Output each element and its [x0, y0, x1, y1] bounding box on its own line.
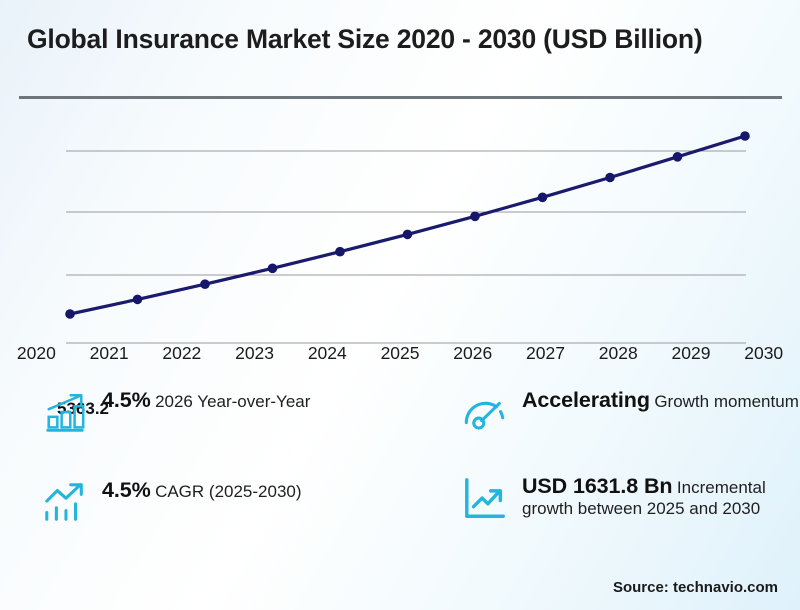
data-point [470, 212, 480, 222]
data-point [538, 193, 548, 203]
kpi-card-yoy: 4.5% 2026 Year-over-Year [42, 388, 310, 436]
gridlines [66, 151, 746, 343]
x-tick-label: 2024 [291, 343, 364, 371]
bar-chart-growth-icon [42, 390, 88, 436]
data-point [268, 264, 278, 274]
line-chart: 5363.2 [0, 110, 800, 360]
kpi-value: 4.5% [102, 388, 151, 412]
x-tick-label: 2021 [73, 343, 146, 371]
speedometer-icon [462, 390, 508, 436]
x-tick-label: 2022 [145, 343, 218, 371]
x-tick-label: 2020 [0, 343, 73, 371]
kpi-text: USD 1631.8 Bn Incremental growth between… [522, 474, 800, 520]
x-tick-label: 2030 [727, 343, 800, 371]
source-credit: Source: technavio.com [613, 579, 778, 596]
kpi-text: Accelerating Growth momentum [522, 388, 799, 413]
page-title: Global Insurance Market Size 2020 - 2030… [27, 24, 787, 55]
data-point [200, 279, 210, 289]
series-line [70, 136, 745, 314]
axis-trend-arrow-icon [462, 476, 508, 522]
x-tick-label: 2023 [218, 343, 291, 371]
trend-up-bars-icon [42, 480, 88, 526]
data-point [740, 131, 750, 141]
kpi-label: CAGR (2025-2030) [155, 482, 301, 501]
x-tick-label: 2028 [582, 343, 655, 371]
kpi-card-cagr: 4.5% CAGR (2025-2030) [42, 478, 302, 526]
x-tick-label: 2026 [436, 343, 509, 371]
data-point [335, 247, 345, 257]
kpi-value: USD 1631.8 Bn [522, 474, 672, 498]
data-point [133, 295, 143, 305]
kpi-value: 4.5% [102, 478, 151, 502]
x-tick-label: 2029 [655, 343, 728, 371]
kpi-text: 4.5% 2026 Year-over-Year [102, 388, 310, 413]
kpi-grid: 4.5% 2026 Year-over-Year 4.5% CAGR (2025… [0, 382, 800, 562]
kpi-label: Growth momentum [654, 392, 799, 411]
title-divider [19, 96, 782, 99]
infographic-root: Global Insurance Market Size 2020 - 2030… [0, 0, 800, 610]
x-tick-label: 2027 [509, 343, 582, 371]
chart-svg [0, 110, 800, 360]
data-point [673, 152, 683, 162]
x-axis-tick-labels: 2020202120222023202420252026202720282029… [0, 343, 800, 371]
kpi-card-momentum: Accelerating Growth momentum [462, 388, 799, 436]
kpi-card-incremental: USD 1631.8 Bn Incremental growth between… [462, 474, 800, 522]
kpi-text: 4.5% CAGR (2025-2030) [102, 478, 302, 503]
kpi-label: 2026 Year-over-Year [155, 392, 310, 411]
series-markers [65, 131, 750, 319]
kpi-value: Accelerating [522, 388, 650, 412]
data-point [403, 230, 413, 240]
data-point [605, 173, 615, 183]
data-point [65, 309, 75, 319]
x-tick-label: 2025 [364, 343, 437, 371]
